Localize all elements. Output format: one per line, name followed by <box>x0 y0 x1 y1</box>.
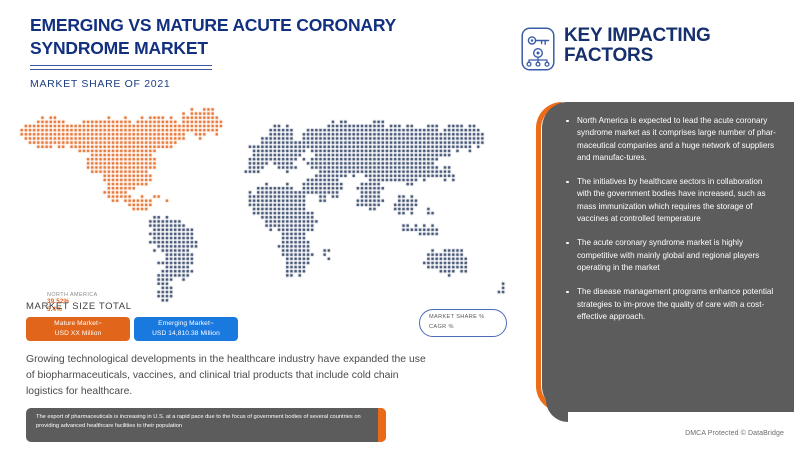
title-divider <box>30 65 212 70</box>
market-share-percent-label: MARKET SHARE % <box>429 313 506 323</box>
factor-text: The initiatives by healthcare sectors in… <box>577 177 766 223</box>
page-title: EMERGING VS MATURE ACUTE CORONARY SYNDRO… <box>30 14 470 60</box>
bullet-dot-icon <box>566 120 569 123</box>
legend-pill-emerging-market[interactable]: Emerging Market~ USD 14,810.38 Million <box>134 317 238 341</box>
page-subtitle: MARKET SHARE OF 2021 <box>30 78 470 90</box>
copyright-credit: DMCA Protected © DataBridge <box>685 430 784 437</box>
bullet-dot-icon <box>566 181 569 184</box>
bullet-dot-icon <box>566 291 569 294</box>
key-network-icon <box>521 27 555 76</box>
market-share-cagr-badge: MARKET SHARE % CAGR % <box>419 309 507 337</box>
mature-market-line1: Mature Market~ <box>54 319 102 329</box>
cagr-percent-label: CAGR % <box>429 323 506 333</box>
factors-card: North America is expected to lead the ac… <box>542 102 794 412</box>
left-pane: EMERGING VS MATURE ACUTE CORONARY SYNDRO… <box>0 0 510 450</box>
factor-item: North America is expected to lead the ac… <box>566 115 776 164</box>
bullet-dot-icon <box>566 242 569 245</box>
factor-item: The disease management programs enhance … <box>566 286 776 323</box>
map-canvas <box>8 104 508 304</box>
infographic-slide: EMERGING VS MATURE ACUTE CORONARY SYNDRO… <box>0 0 800 450</box>
factor-text: North America is expected to lead the ac… <box>577 116 776 162</box>
callout-box: The export of pharmaceuticals is increas… <box>26 408 386 442</box>
lead-paragraph: Growing technological developments in th… <box>26 352 426 400</box>
factor-text: The acute coronary syndrome market is hi… <box>577 238 759 272</box>
key-factors-header: KEY IMPACTING FACTORS <box>521 26 711 76</box>
title-block: EMERGING VS MATURE ACUTE CORONARY SYNDRO… <box>30 14 470 90</box>
key-impacting-factors-pane: KEY IMPACTING FACTORS North America is e… <box>510 0 800 450</box>
factor-text: The disease management programs enhance … <box>577 287 773 321</box>
legend-pill-mature-market[interactable]: Mature Market~ USD XX Million <box>26 317 130 341</box>
world-dot-map: NORTH AMERICA 39.52% 5.4% <box>8 104 508 304</box>
factor-item: The acute coronary syndrome market is hi… <box>566 237 776 274</box>
mature-market-line2: USD XX Million <box>55 329 101 339</box>
factor-item: The initiatives by healthcare sectors in… <box>566 176 776 225</box>
callout-accent-bar <box>378 408 386 442</box>
key-factors-title: KEY IMPACTING FACTORS <box>564 26 711 67</box>
callout-text: The export of pharmaceuticals is increas… <box>36 413 362 431</box>
emerging-market-line1: Emerging Market~ <box>158 319 214 329</box>
emerging-market-line2: USD 14,810.38 Million <box>152 329 220 339</box>
market-size-total-label: MARKET SIZE TOTAL <box>26 301 132 312</box>
